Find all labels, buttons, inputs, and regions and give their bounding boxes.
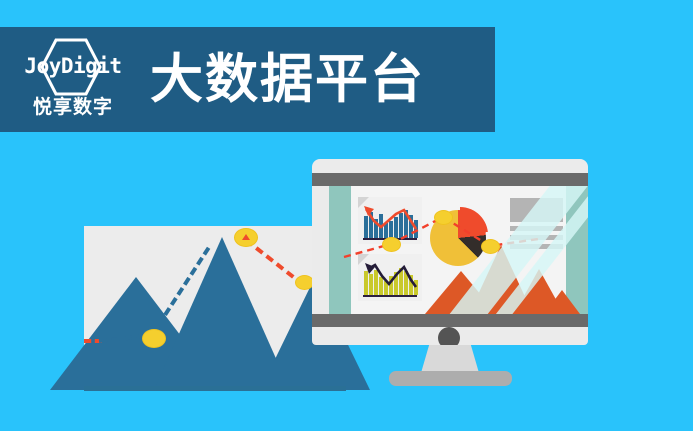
trend-line-overlay xyxy=(358,197,422,244)
mountain-chart-panel xyxy=(84,226,346,390)
blue-bar-chart-card xyxy=(358,197,422,244)
logo-wordmark: JoyDigit xyxy=(14,54,132,78)
monitor-stand-neck xyxy=(421,345,479,373)
page-title: 大数据平台 xyxy=(150,53,425,106)
x-axis xyxy=(363,295,417,297)
monitor-stand-base xyxy=(389,371,512,386)
trend-line-overlay xyxy=(358,254,422,301)
orange-mountain-shape xyxy=(544,287,580,314)
data-point-node xyxy=(235,229,257,246)
logo-subtitle: 悦享数字 xyxy=(14,92,132,119)
data-point-node xyxy=(383,238,400,251)
monitor-top-bar xyxy=(312,173,588,186)
monitor-screen xyxy=(329,186,588,314)
poster-canvas: JoyDigit 悦享数字 大数据平台 xyxy=(0,0,693,431)
data-point-node xyxy=(296,276,313,289)
data-point-node xyxy=(435,211,452,224)
olive-bar-chart-card xyxy=(358,254,422,301)
monitor-bottom-bar xyxy=(312,314,588,327)
panel-base-strip xyxy=(84,386,346,391)
data-point-node xyxy=(482,240,499,253)
up-arrow-icon xyxy=(235,229,257,246)
desktop-monitor xyxy=(312,159,588,345)
brand-logo: JoyDigit 悦享数字 xyxy=(14,34,132,126)
header-banner: JoyDigit 悦享数字 大数据平台 xyxy=(0,27,495,132)
screen-left-panel xyxy=(329,186,351,314)
data-point-node xyxy=(143,330,165,347)
